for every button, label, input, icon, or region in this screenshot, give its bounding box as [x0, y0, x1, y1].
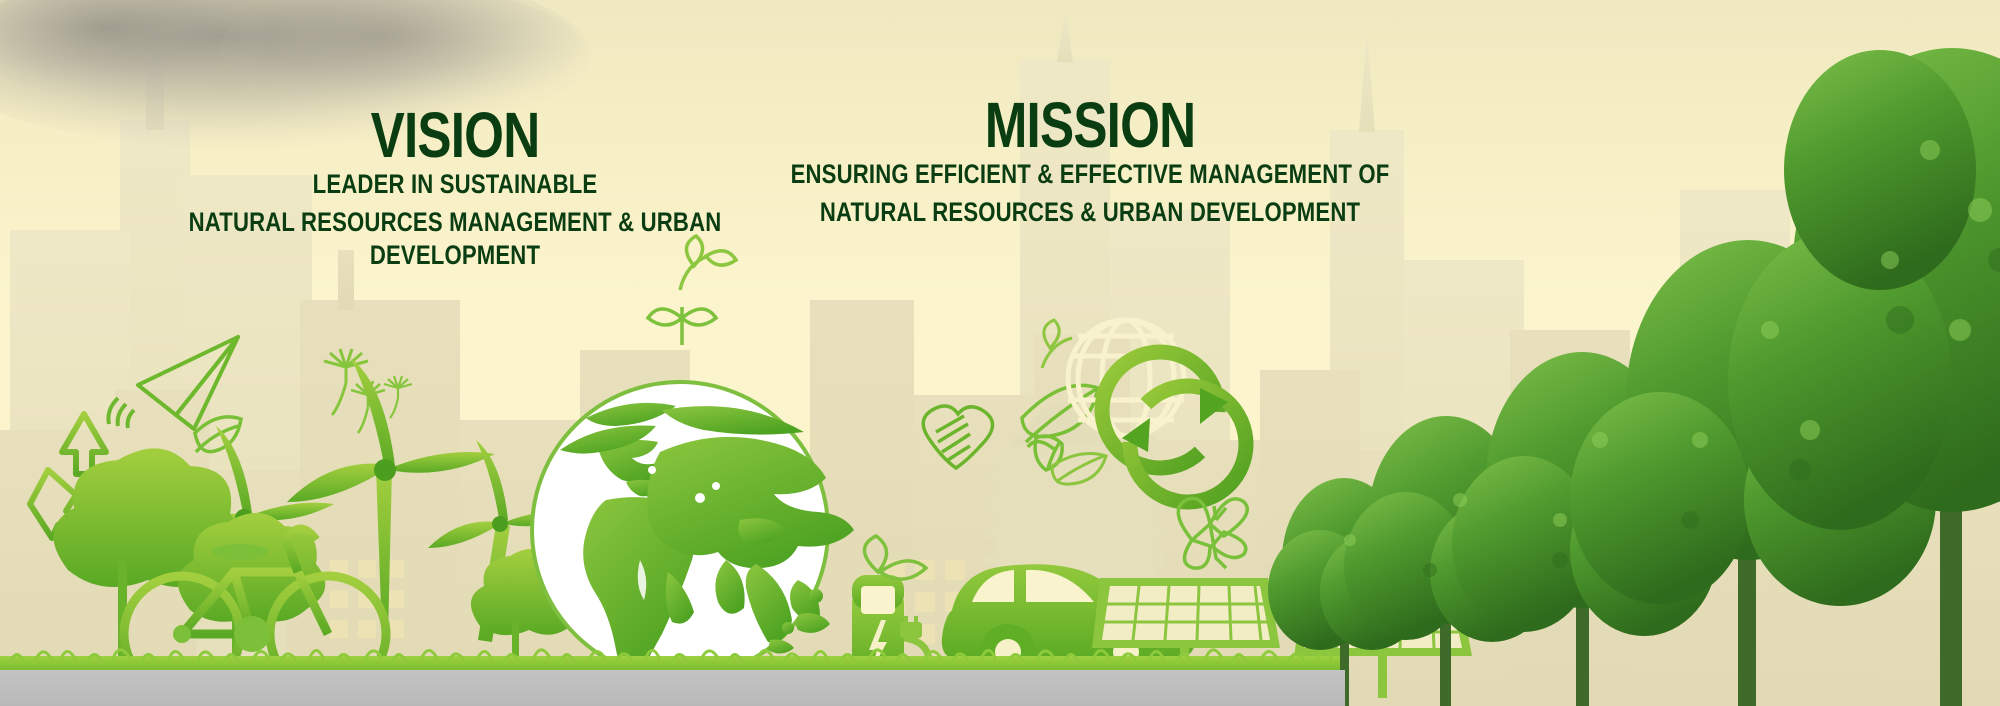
mission-line-1: ENSURING EFFICIENT & EFFECTIVE MANAGEMEN…: [762, 158, 1418, 191]
leaf-icon: [864, 536, 926, 579]
sprout-icon: [1042, 320, 1072, 368]
road: [0, 670, 1345, 706]
mission-block: MISSION ENSURING EFFICIENT & EFFECTIVE M…: [690, 98, 1490, 229]
paper-plane-icon: [108, 337, 238, 429]
leaf-icon: [195, 417, 241, 452]
mission-heading: MISSION: [770, 98, 1410, 153]
eco-vision-mission-banner: VISION LEADER IN SUSTAINABLE NATURAL RES…: [0, 0, 2000, 706]
sprout-icon: [648, 307, 716, 345]
heart-leaf-icon: [923, 406, 992, 468]
mission-line-2: NATURAL RESOURCES & URBAN DEVELOPMENT: [762, 196, 1418, 229]
wireframe-globe-icon: [1068, 320, 1184, 436]
